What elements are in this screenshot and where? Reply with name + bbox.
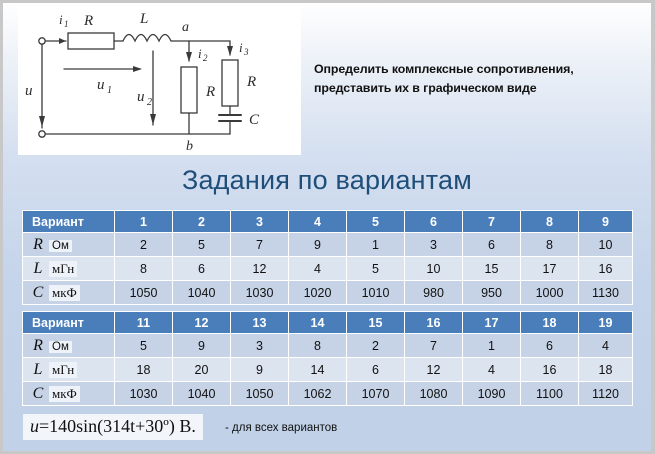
table-row-R: RОм 5 9 3 8 2 7 1 6 4 [23,334,633,358]
cell-R-15: 2 [347,334,405,358]
header-variant-7: 7 [463,211,521,233]
label-i2: i [198,46,202,61]
table-row-L: LмГн 8 6 12 4 5 10 15 17 16 [23,257,633,281]
cell-C-12: 1040 [173,382,231,406]
label-i1: i [59,12,63,27]
cell-C-8: 1000 [521,281,579,305]
symbol-C: C [27,284,49,302]
cell-L-13: 9 [231,358,289,382]
cell-R-19: 4 [579,334,633,358]
cell-L-11: 18 [115,358,173,382]
cell-R-18: 6 [521,334,579,358]
symbol-C: C [27,385,49,403]
cell-C-5: 1010 [347,281,405,305]
cell-R-16: 7 [405,334,463,358]
header-variant-16: 16 [405,312,463,334]
label-R-series: R [83,13,93,29]
header-variant-18: 18 [521,312,579,334]
variants-table-1: Вариант 1 2 3 4 5 6 7 8 9 RОм 2 5 7 9 [22,210,633,305]
cell-L-16: 12 [405,358,463,382]
cell-C-15: 1070 [347,382,405,406]
cell-R-14: 8 [289,334,347,358]
cell-R-12: 9 [173,334,231,358]
cell-L-19: 18 [579,358,633,382]
unit-mkf: мкФ [49,386,80,402]
cell-C-4: 1020 [289,281,347,305]
slide-canvas: i 1 R L a i 2 i 3 u u 1 u 2 R R C b Оп [3,3,651,451]
cell-R-8: 8 [521,233,579,257]
header-variant-13: 13 [231,312,289,334]
cell-L-1: 8 [115,257,173,281]
formula-variable: u [30,416,39,436]
cell-L-2: 6 [173,257,231,281]
cell-L-6: 10 [405,257,463,281]
row-label-R: RОм [23,233,115,257]
unit-mgn: мГн [49,362,77,378]
svg-text:3: 3 [243,47,249,57]
cell-C-9: 1130 [579,281,633,305]
task-prompt-line2: представить их в графическом виде [314,79,644,98]
row-label-C: CмкФ [23,382,115,406]
symbol-R: R [27,337,49,355]
header-variant-1: 1 [115,211,173,233]
header-variant-label: Вариант [23,312,115,334]
cell-C-19: 1120 [579,382,633,406]
label-node-b: b [186,139,193,154]
formula-expression: =140sin(314t+30º) В. [39,416,196,436]
cell-R-17: 1 [463,334,521,358]
header-variant-17: 17 [463,312,521,334]
svg-text:1: 1 [64,19,69,29]
cell-L-15: 6 [347,358,405,382]
label-R-branch3: R [246,74,256,90]
circuit-diagram-image: i 1 R L a i 2 i 3 u u 1 u 2 R R C b [18,3,301,155]
header-variant-2: 2 [173,211,231,233]
header-variant-8: 8 [521,211,579,233]
symbol-L: L [27,260,49,278]
cell-L-12: 20 [173,358,231,382]
label-L: L [139,11,148,27]
cell-C-6: 980 [405,281,463,305]
cell-R-5: 1 [347,233,405,257]
header-variant-label: Вариант [23,211,115,233]
header-variant-12: 12 [173,312,231,334]
label-u2: u [137,89,145,105]
cell-C-1: 1050 [115,281,173,305]
cell-C-14: 1062 [289,382,347,406]
unit-ohm: Ом [49,240,72,252]
header-variant-15: 15 [347,312,405,334]
label-i3: i [239,40,243,55]
svg-text:2: 2 [203,53,208,63]
voltage-formula: u=140sin(314t+30º) В. [23,414,203,440]
symbol-R: R [27,236,49,254]
task-prompt-line1: Определить комплексные сопротивления, [314,60,644,79]
variants-table-2: Вариант 11 12 13 14 15 16 17 18 19 RОм 5… [22,311,633,406]
cell-R-2: 5 [173,233,231,257]
cell-R-6: 3 [405,233,463,257]
unit-mgn: мГн [49,261,77,277]
header-variant-3: 3 [231,211,289,233]
cell-L-17: 4 [463,358,521,382]
cell-R-7: 6 [463,233,521,257]
table-row-R: RОм 2 5 7 9 1 3 6 8 10 [23,233,633,257]
cell-R-1: 2 [115,233,173,257]
cell-R-11: 5 [115,334,173,358]
table-header-row: Вариант 11 12 13 14 15 16 17 18 19 [23,312,633,334]
row-label-C: CмкФ [23,281,115,305]
cell-C-3: 1030 [231,281,289,305]
cell-C-2: 1040 [173,281,231,305]
svg-text:1: 1 [107,85,112,96]
cell-L-8: 17 [521,257,579,281]
cell-L-5: 5 [347,257,405,281]
page-title: Задания по вариантам [3,165,651,196]
unit-ohm: Ом [49,341,72,353]
cell-C-11: 1030 [115,382,173,406]
formula-note: - для всех вариантов [225,422,337,434]
task-prompt: Определить комплексные сопротивления, пр… [314,60,644,98]
cell-L-7: 15 [463,257,521,281]
label-R-branch2: R [205,84,215,100]
cell-C-18: 1100 [521,382,579,406]
row-label-L: LмГн [23,257,115,281]
table-row-C: CмкФ 1050 1040 1030 1020 1010 980 950 10… [23,281,633,305]
label-u1: u [97,77,105,93]
cell-C-16: 1080 [405,382,463,406]
svg-text:2: 2 [147,97,152,108]
header-variant-11: 11 [115,312,173,334]
label-u: u [25,83,33,99]
table-row-C: CмкФ 1030 1040 1050 1062 1070 1080 1090 … [23,382,633,406]
cell-C-13: 1050 [231,382,289,406]
header-variant-9: 9 [579,211,633,233]
cell-C-7: 950 [463,281,521,305]
cell-R-9: 10 [579,233,633,257]
unit-mkf: мкФ [49,285,80,301]
table-header-row: Вариант 1 2 3 4 5 6 7 8 9 [23,211,633,233]
row-label-R: RОм [23,334,115,358]
cell-R-13: 3 [231,334,289,358]
header-variant-4: 4 [289,211,347,233]
cell-L-3: 12 [231,257,289,281]
label-C: C [249,112,260,128]
cell-R-4: 9 [289,233,347,257]
cell-L-4: 4 [289,257,347,281]
header-variant-19: 19 [579,312,633,334]
cell-L-18: 16 [521,358,579,382]
label-node-a: a [182,20,189,35]
cell-L-9: 16 [579,257,633,281]
cell-C-17: 1090 [463,382,521,406]
row-label-L: LмГн [23,358,115,382]
header-variant-14: 14 [289,312,347,334]
cell-L-14: 14 [289,358,347,382]
cell-R-3: 7 [231,233,289,257]
header-variant-6: 6 [405,211,463,233]
symbol-L: L [27,361,49,379]
header-variant-5: 5 [347,211,405,233]
table-row-L: LмГн 18 20 9 14 6 12 4 16 18 [23,358,633,382]
